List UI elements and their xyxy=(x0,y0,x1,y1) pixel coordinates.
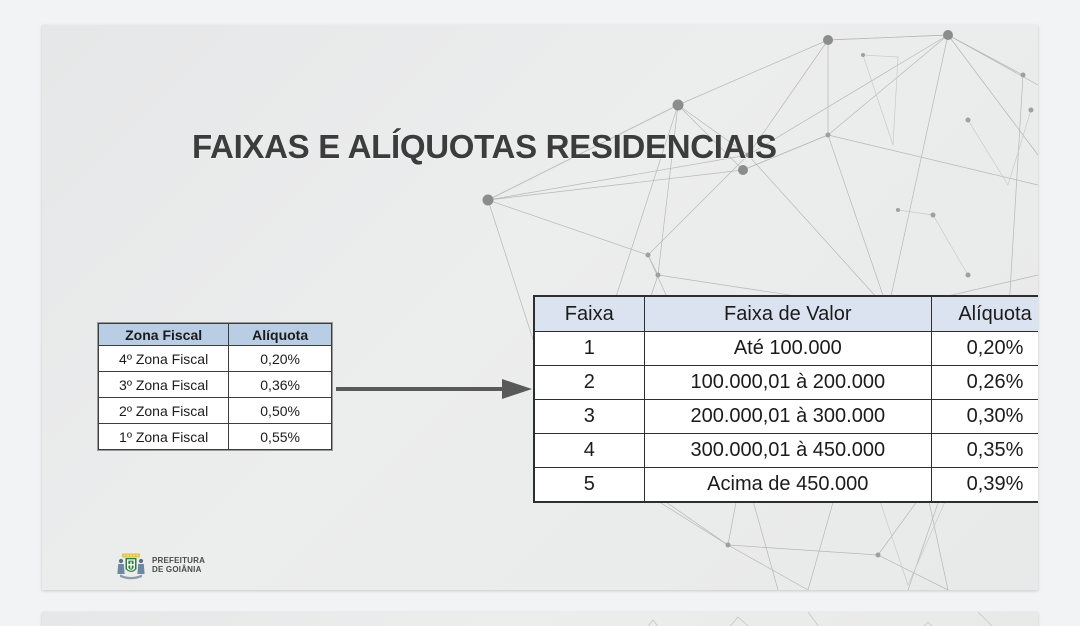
slide-next-preview[interactable] xyxy=(42,612,1038,626)
cell-aliquota: 0,36% xyxy=(229,372,332,398)
goiania-coat-of-arms-icon xyxy=(116,552,146,580)
column-header-aliquota: Alíquota xyxy=(229,324,332,346)
table-row[interactable]: 3º Zona Fiscal 0,36% xyxy=(99,372,332,398)
slide-faixas-aliquotas-residenciais[interactable]: FAIXAS E ALÍQUOTAS RESIDENCIAIS Zona Fis… xyxy=(42,25,1038,590)
cell-faixa-valor: Acima de 450.000 xyxy=(644,468,932,503)
column-header-zona-fiscal: Zona Fiscal xyxy=(99,324,229,346)
cell-faixa-valor: 200.000,01 à 300.000 xyxy=(644,400,932,434)
cell-aliquota: 0,20% xyxy=(229,346,332,372)
table-header-row: Zona Fiscal Alíquota xyxy=(99,324,332,346)
cell-zona: 1º Zona Fiscal xyxy=(99,424,229,450)
table-row[interactable]: 3 200.000,01 à 300.000 0,30% xyxy=(534,400,1038,434)
cell-faixa-valor: 100.000,01 à 200.000 xyxy=(644,366,932,400)
cell-aliquota: 0,39% xyxy=(932,468,1038,503)
cell-faixa: 2 xyxy=(534,366,644,400)
prefeitura-de-goiania-logo: PREFEITURA DE GOIÂNIA xyxy=(116,552,205,580)
cell-zona: 3º Zona Fiscal xyxy=(99,372,229,398)
right-arrow-icon xyxy=(336,377,532,401)
cell-aliquota: 0,20% xyxy=(932,332,1038,366)
cell-zona: 2º Zona Fiscal xyxy=(99,398,229,424)
cell-zona: 4º Zona Fiscal xyxy=(99,346,229,372)
logo-wordmark: PREFEITURA DE GOIÂNIA xyxy=(152,557,205,575)
cell-faixa: 3 xyxy=(534,400,644,434)
faixas-de-valor-table[interactable]: Faixa Faixa de Valor Alíquota 1 Até 100.… xyxy=(533,295,1038,503)
cell-aliquota: 0,55% xyxy=(229,424,332,450)
table-row[interactable]: 1º Zona Fiscal 0,55% xyxy=(99,424,332,450)
column-header-faixa-de-valor: Faixa de Valor xyxy=(644,296,932,332)
column-header-faixa: Faixa xyxy=(534,296,644,332)
cell-aliquota: 0,35% xyxy=(932,434,1038,468)
table-header-row: Faixa Faixa de Valor Alíquota xyxy=(534,296,1038,332)
cell-aliquota: 0,30% xyxy=(932,400,1038,434)
table-row[interactable]: 4º Zona Fiscal 0,20% xyxy=(99,346,332,372)
logo-line-2: DE GOIÂNIA xyxy=(152,566,205,575)
table-row[interactable]: 4 300.000,01 à 450.000 0,35% xyxy=(534,434,1038,468)
cell-faixa-valor: Até 100.000 xyxy=(644,332,932,366)
zona-fiscal-table[interactable]: Zona Fiscal Alíquota 4º Zona Fiscal 0,20… xyxy=(98,323,332,450)
slide-scroll-view: FAIXAS E ALÍQUOTAS RESIDENCIAIS Zona Fis… xyxy=(0,0,1080,626)
cell-faixa: 5 xyxy=(534,468,644,503)
page-title: FAIXAS E ALÍQUOTAS RESIDENCIAIS xyxy=(192,128,777,166)
column-header-aliquota: Alíquota xyxy=(932,296,1038,332)
cell-faixa: 4 xyxy=(534,434,644,468)
table-row[interactable]: 5 Acima de 450.000 0,39% xyxy=(534,468,1038,503)
network-background-pattern xyxy=(478,612,1038,626)
table-row[interactable]: 2º Zona Fiscal 0,50% xyxy=(99,398,332,424)
cell-faixa-valor: 300.000,01 à 450.000 xyxy=(644,434,932,468)
table-row[interactable]: 2 100.000,01 à 200.000 0,26% xyxy=(534,366,1038,400)
table-row[interactable]: 1 Até 100.000 0,20% xyxy=(534,332,1038,366)
cell-aliquota: 0,26% xyxy=(932,366,1038,400)
cell-aliquota: 0,50% xyxy=(229,398,332,424)
cell-faixa: 1 xyxy=(534,332,644,366)
